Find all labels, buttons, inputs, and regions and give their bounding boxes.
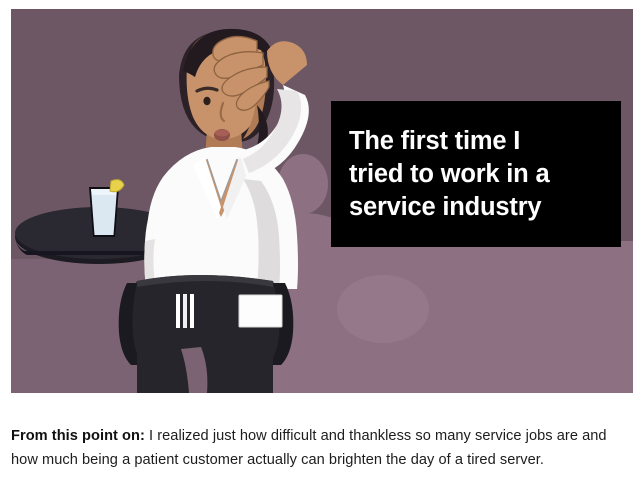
overlay-line-1: The first time I [349, 125, 621, 158]
background-silhouette-2 [337, 275, 429, 343]
overlay-line-2: tried to work in a [349, 158, 621, 191]
caption-lead-label: From this point on: [11, 428, 145, 444]
caption-paragraph: From this point on: I realized just how … [11, 424, 635, 472]
apron-notepad [239, 295, 282, 327]
overlay-line-3: service industry [349, 191, 621, 224]
eye-left [203, 97, 210, 105]
apron-straws [176, 294, 194, 328]
overlay-text-container: The first time I tried to work in a serv… [331, 101, 621, 247]
article-image: The first time I tried to work in a serv… [11, 9, 633, 393]
